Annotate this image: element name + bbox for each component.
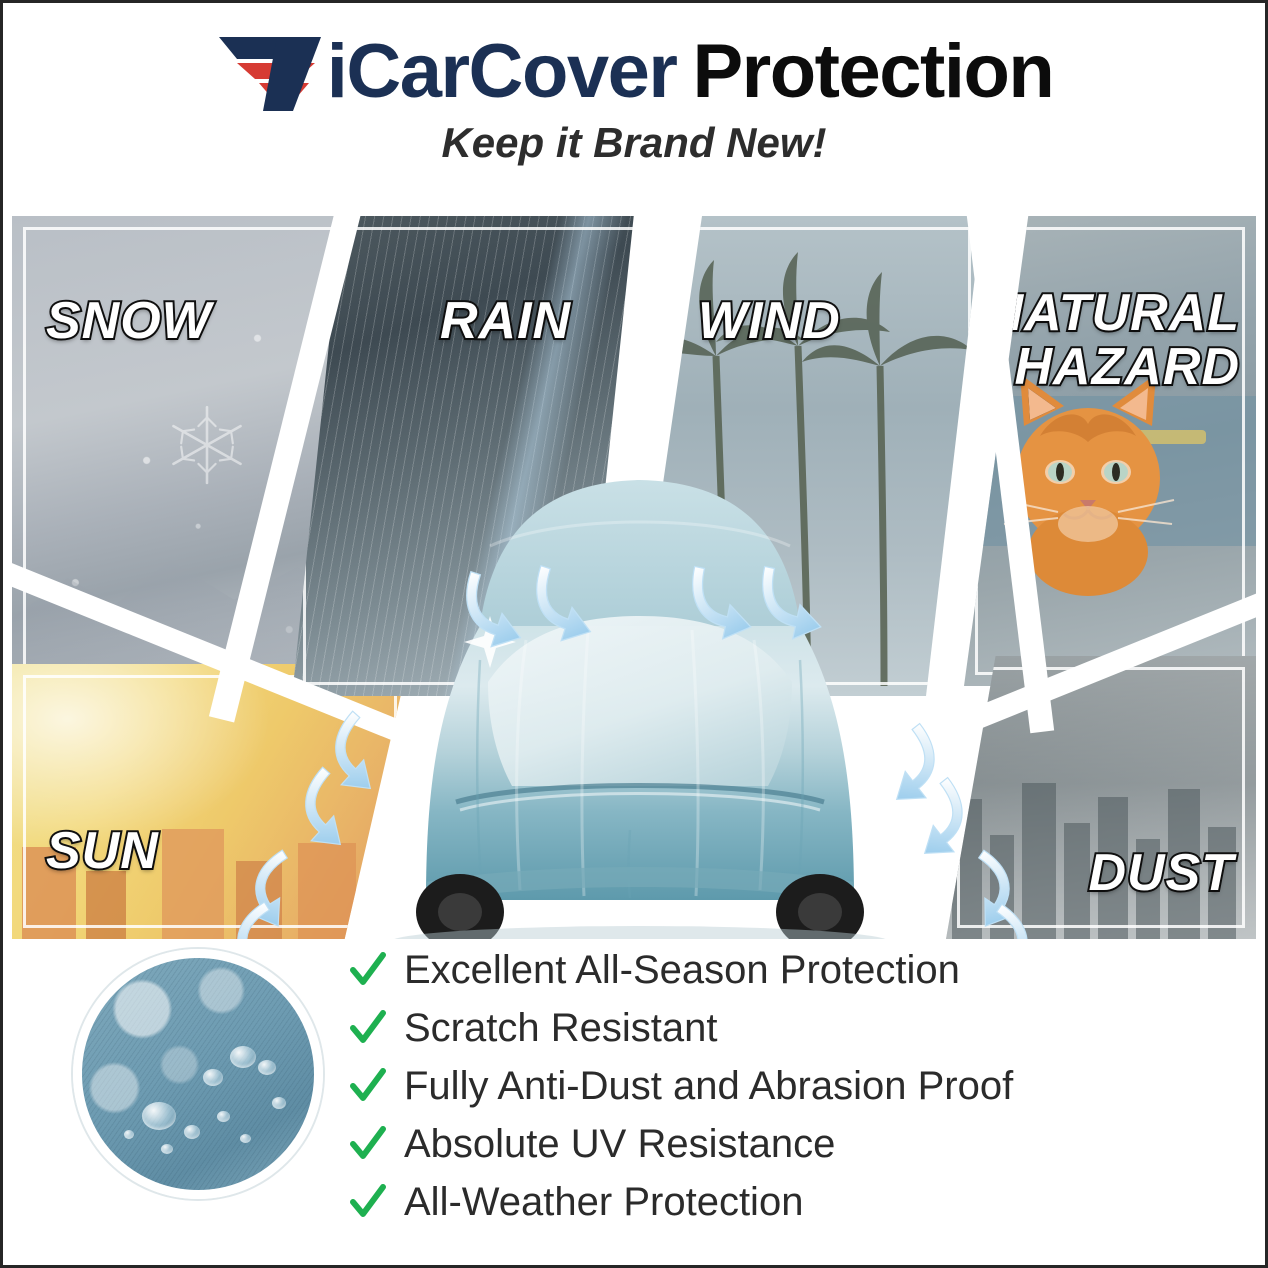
feature-label: Absolute UV Resistance [404, 1122, 835, 1167]
check-icon [348, 1008, 388, 1048]
weather-protection-collage: SNOW SUN RAIN [12, 216, 1256, 939]
panel-label-wind: WIND [698, 294, 841, 348]
water-droplet [203, 1069, 223, 1086]
check-icon [348, 1182, 388, 1222]
brand-title: iCarCoverProtection [327, 29, 1054, 115]
water-droplet [124, 1130, 134, 1139]
check-icon [348, 1066, 388, 1106]
panel-label-snow: SNOW [46, 294, 212, 348]
water-droplet [142, 1102, 176, 1130]
hazy-cityscape-scene [946, 739, 1256, 939]
car-cover-illustration [330, 430, 950, 939]
brand-protection: Protection [692, 29, 1053, 114]
panel-label-natural-hazard: NATURAL HAZARD [986, 286, 1240, 394]
covered-car-image [330, 430, 950, 939]
brand-i: i [327, 29, 347, 114]
feature-item: Fully Anti-Dust and Abrasion Proof [348, 1057, 1228, 1115]
check-icon [348, 1124, 388, 1164]
feature-list: Excellent All-Season Protection Scratch … [348, 941, 1228, 1231]
icarcover-wing-logo-icon [215, 29, 323, 115]
water-droplet [272, 1097, 286, 1109]
feature-label: Scratch Resistant [404, 1006, 717, 1051]
feature-label: Excellent All-Season Protection [404, 948, 960, 993]
brand-lockup: iCarCoverProtection [215, 29, 1054, 115]
brand-carcover: CarCover [346, 29, 676, 114]
water-droplet [230, 1046, 256, 1068]
water-droplet [217, 1111, 230, 1122]
water-droplet [258, 1060, 276, 1075]
panel-label-sun: SUN [46, 824, 159, 878]
feature-item: Scratch Resistant [348, 999, 1228, 1057]
feature-item: Excellent All-Season Protection [348, 941, 1228, 999]
header: iCarCoverProtection Keep it Brand New! [3, 3, 1265, 203]
panel-label-dust: DUST [1088, 846, 1234, 900]
orange-cat-icon [984, 366, 1192, 596]
feature-item: All-Weather Protection [348, 1173, 1228, 1231]
feature-label: Fully Anti-Dust and Abrasion Proof [404, 1064, 1013, 1109]
feature-label: All-Weather Protection [404, 1180, 803, 1225]
check-icon [348, 950, 388, 990]
features-section: Excellent All-Season Protection Scratch … [3, 941, 1265, 1265]
water-droplet [161, 1144, 173, 1154]
water-droplet [184, 1125, 200, 1139]
snowflake-icon [164, 402, 250, 488]
panel-dust: DUST [946, 656, 1256, 939]
waterproof-fabric-swatch [73, 949, 323, 1199]
panel-natural-hazard: NATURAL HAZARD [964, 216, 1256, 686]
panel-label-rain: RAIN [440, 294, 571, 348]
feature-item: Absolute UV Resistance [348, 1115, 1228, 1173]
tagline: Keep it Brand New! [441, 119, 826, 167]
water-droplet [240, 1134, 251, 1143]
product-infographic: iCarCoverProtection Keep it Brand New! [0, 0, 1268, 1268]
